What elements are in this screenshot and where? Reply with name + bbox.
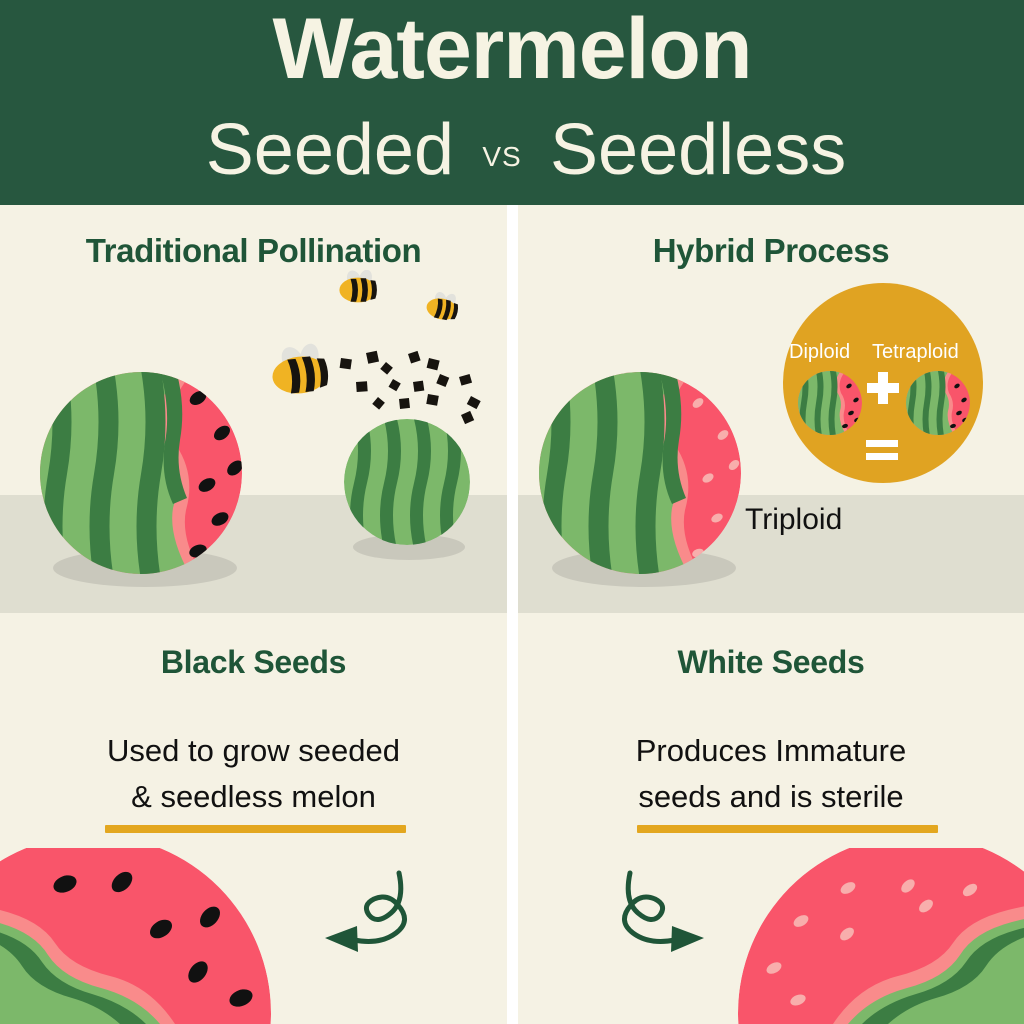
accent-rule-right — [637, 825, 938, 833]
plus-symbol-icon — [867, 372, 899, 404]
pollen-dots-icon — [340, 351, 481, 424]
subtitle-vs: VS — [454, 143, 550, 171]
watermelon-cut-icon — [529, 370, 741, 580]
infographic-root: Watermelon Seeded VS Seedless Traditiona… — [0, 0, 1024, 1024]
watermelon-whole-icon — [344, 419, 470, 549]
seed-description-line: & seedless melon — [0, 774, 507, 820]
traditional-pollination-illustration — [0, 270, 507, 615]
seed-description-black: Used to grow seeded & seedless melon — [0, 728, 507, 820]
panel-heading-hybrid: Hybrid Process — [518, 234, 1024, 267]
diploid-melon-icon — [795, 368, 865, 438]
watermelon-cut-icon — [30, 370, 246, 580]
seed-description-white: Produces Immature seeds and is sterile — [518, 728, 1024, 820]
seed-description-line: Produces Immature — [518, 728, 1024, 774]
comparison-subtitle: Seeded VS Seedless — [0, 114, 1024, 194]
label-tetraploid: Tetraploid — [872, 342, 959, 362]
panel-divider — [507, 205, 518, 1024]
arrow-head-right — [671, 926, 704, 952]
subtitle-seeded: Seeded — [74, 114, 454, 186]
panel-heading-traditional: Traditional Pollination — [0, 234, 507, 267]
seed-heading-black: Black Seeds — [0, 646, 507, 678]
curly-arrow-right-icon — [624, 873, 675, 941]
bee-icon — [269, 340, 330, 396]
black-seed-melon-illustration — [0, 848, 507, 1024]
curly-arrow-left-icon — [354, 873, 405, 941]
page-title: Watermelon — [0, 6, 1024, 92]
bee-icon — [339, 270, 377, 302]
accent-rule-left — [105, 825, 406, 833]
seed-description-line: seeds and is sterile — [518, 774, 1024, 820]
label-diploid: Diploid — [789, 342, 850, 362]
arrow-head-left — [325, 926, 358, 952]
white-seed-melon-illustration — [518, 848, 1024, 1024]
label-triploid: Triploid — [745, 505, 842, 535]
seed-heading-white: White Seeds — [518, 646, 1024, 678]
bee-icon — [425, 288, 462, 323]
header-banner: Watermelon Seeded VS Seedless — [0, 0, 1024, 205]
tetraploid-melon-icon — [903, 368, 973, 438]
equals-symbol-icon — [866, 440, 898, 460]
subtitle-seedless: Seedless — [550, 114, 950, 186]
seed-description-line: Used to grow seeded — [0, 728, 507, 774]
